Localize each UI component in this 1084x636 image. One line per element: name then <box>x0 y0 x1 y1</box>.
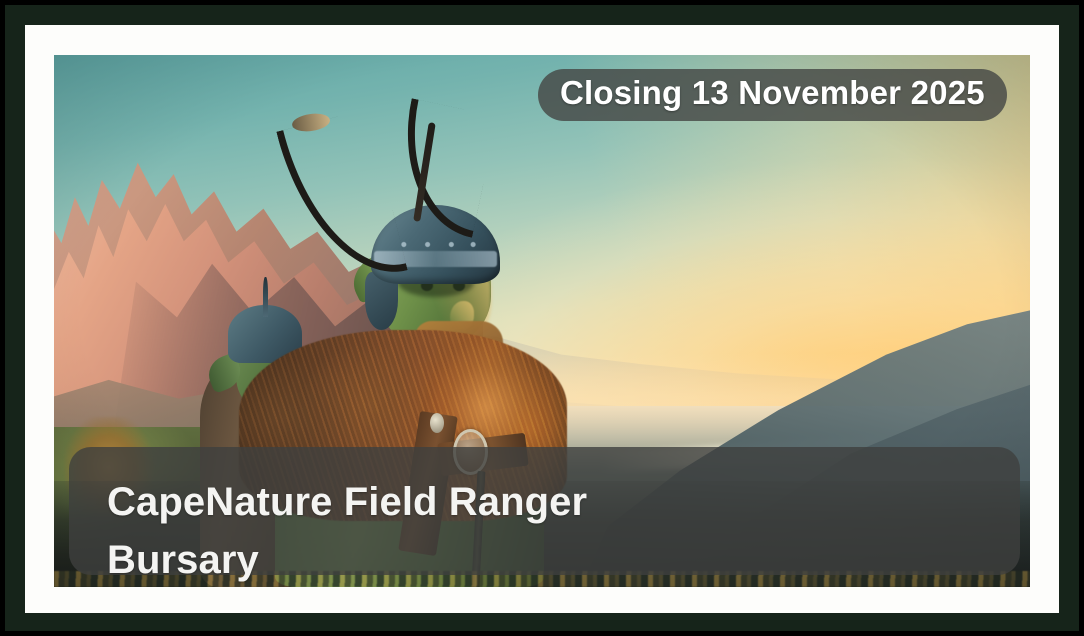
poster-frame: Closing 13 November 2025 CapeNature Fiel… <box>0 0 1084 636</box>
title-overlay-panel: CapeNature Field Ranger Bursary 2026 <box>69 447 1020 575</box>
title-line-2: Bursary <box>107 531 1020 587</box>
rear-figure-helmet-spike <box>263 277 268 317</box>
poster-photograph: Closing 13 November 2025 CapeNature Fiel… <box>54 55 1030 587</box>
poster-outer-border: Closing 13 November 2025 CapeNature Fiel… <box>5 5 1079 631</box>
title-line-1: CapeNature Field Ranger <box>107 473 1020 531</box>
closing-date-badge: Closing 13 November 2025 <box>538 69 1007 121</box>
poster-white-mat: Closing 13 November 2025 CapeNature Fiel… <box>25 25 1059 613</box>
